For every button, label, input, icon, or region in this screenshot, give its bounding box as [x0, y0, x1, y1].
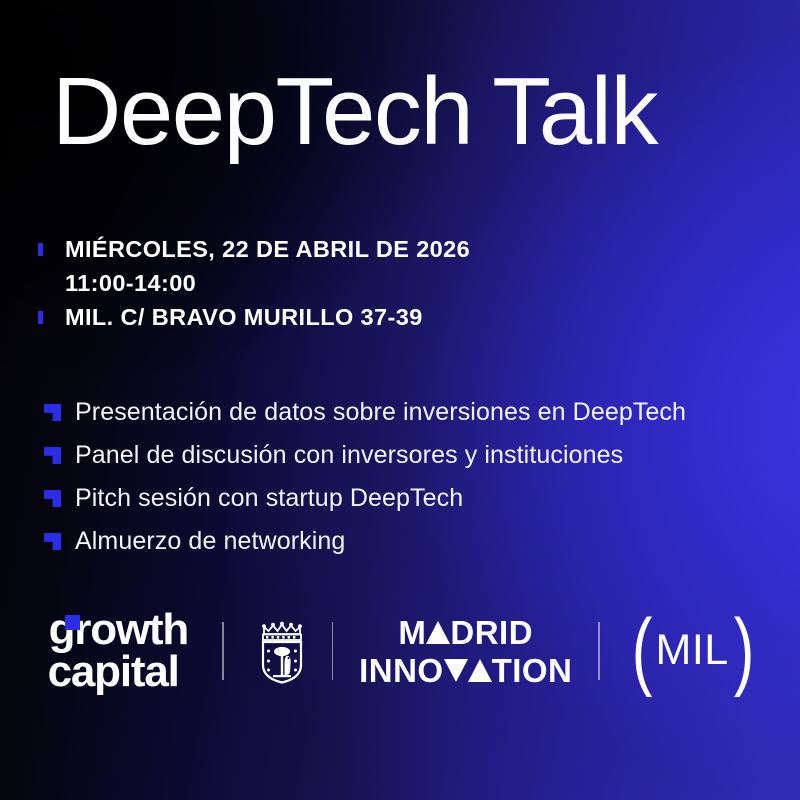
- madrid-line1-suffix: DRID: [450, 616, 533, 649]
- list-item: Presentación de datos sobre inversiones …: [44, 396, 686, 429]
- agenda-item-label: Panel de discusión con inversores y inst…: [75, 439, 623, 472]
- flag-bullet-icon: [44, 533, 61, 550]
- bullet-square-icon: [38, 311, 43, 324]
- growth-accent-square-icon: [65, 615, 80, 630]
- mil-wordmark: MIL: [655, 626, 730, 675]
- mil-open-paren: (: [632, 617, 651, 684]
- agenda-item-label: Pitch sesión con startup DeepTech: [75, 482, 463, 515]
- mil-close-paren: ): [733, 617, 752, 684]
- madrid-innovation-line-1: M DRID: [359, 616, 572, 649]
- madrid-innovation-line-2: INNO TION: [359, 654, 572, 687]
- growth-capital-line-2: capital: [48, 651, 188, 693]
- logo-divider: [332, 622, 334, 680]
- flag-bullet-icon: [44, 447, 61, 464]
- poster-canvas: DeepTechTalk MIÉRCOLES, 22 DE ABRIL DE 2…: [0, 0, 800, 800]
- logo-divider: [598, 622, 600, 680]
- madrid-innovation-logo: M DRID INNO TION: [359, 616, 572, 687]
- detail-row-time: 11:00-14:00: [38, 266, 470, 300]
- flag-bullet-icon: [44, 404, 61, 421]
- flag-bullet-icon: [44, 490, 61, 507]
- list-item: Almuerzo de networking: [44, 525, 686, 558]
- madrid-coat-of-arms-icon: [256, 618, 308, 684]
- logo-divider: [222, 622, 224, 680]
- event-time: 11:00-14:00: [65, 266, 196, 300]
- mil-logo: ( MIL ): [628, 617, 756, 684]
- bullet-square-icon: [38, 243, 43, 256]
- madrid-shield-logo: [256, 618, 308, 684]
- triangle-down-icon: [444, 659, 468, 682]
- madrid-line2-prefix: INNO: [359, 654, 444, 687]
- sponsor-logo-strip: growth capital: [0, 596, 800, 706]
- event-location: MIL. C/ BRAVO MURILLO 37-39: [65, 300, 423, 334]
- detail-row-date: MIÉRCOLES, 22 DE ABRIL DE 2026: [38, 232, 470, 266]
- detail-row-location: MIL. C/ BRAVO MURILLO 37-39: [38, 300, 470, 334]
- event-date: MIÉRCOLES, 22 DE ABRIL DE 2026: [65, 232, 470, 266]
- agenda-item-label: Almuerzo de networking: [75, 525, 345, 558]
- agenda-list: Presentación de datos sobre inversiones …: [44, 396, 686, 568]
- triangle-up-icon: [426, 621, 450, 644]
- list-item: Pitch sesión con startup DeepTech: [44, 482, 686, 515]
- growth-capital-logo: growth capital: [48, 609, 188, 693]
- page-title: DeepTechTalk: [52, 62, 657, 162]
- title-part-two: Talk: [492, 58, 657, 165]
- madrid-line1-prefix: M: [398, 616, 426, 649]
- madrid-line2-suffix: TION: [492, 654, 573, 687]
- title-part-one: DeepTech: [52, 58, 472, 165]
- agenda-item-label: Presentación de datos sobre inversiones …: [75, 396, 686, 429]
- bullet-placeholder-icon: [38, 277, 43, 290]
- triangle-up-icon: [468, 659, 492, 682]
- event-details: MIÉRCOLES, 22 DE ABRIL DE 2026 11:00-14:…: [38, 232, 470, 334]
- list-item: Panel de discusión con inversores y inst…: [44, 439, 686, 472]
